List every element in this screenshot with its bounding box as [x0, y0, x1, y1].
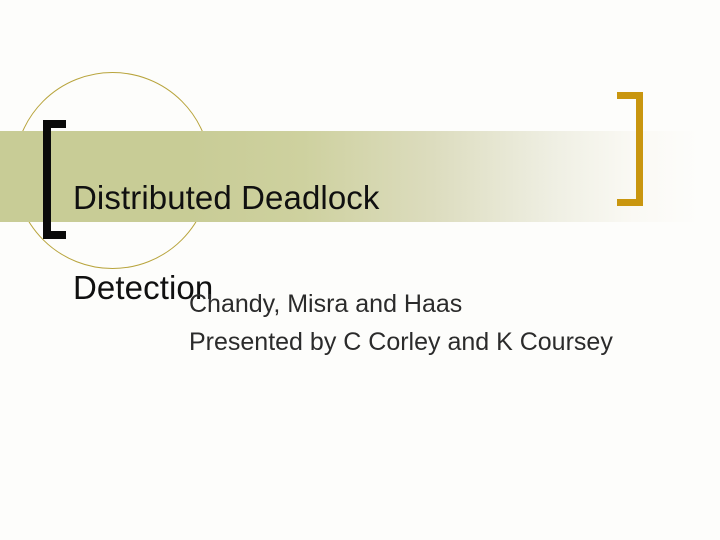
slide-subtitle: Chandy, Misra and Haas Presented by C Co…: [189, 285, 619, 361]
presentation-slide: Distributed Deadlock Detection Chandy, M…: [0, 0, 720, 540]
slide-title-line-1: Distributed Deadlock: [73, 179, 379, 216]
slide-subtitle-line-2: Presented by C Corley and K Coursey: [189, 323, 619, 361]
slide-subtitle-line-1: Chandy, Misra and Haas: [189, 285, 619, 323]
black-left-bracket-icon: [43, 120, 66, 239]
slide-title: Distributed Deadlock Detection: [73, 130, 633, 310]
